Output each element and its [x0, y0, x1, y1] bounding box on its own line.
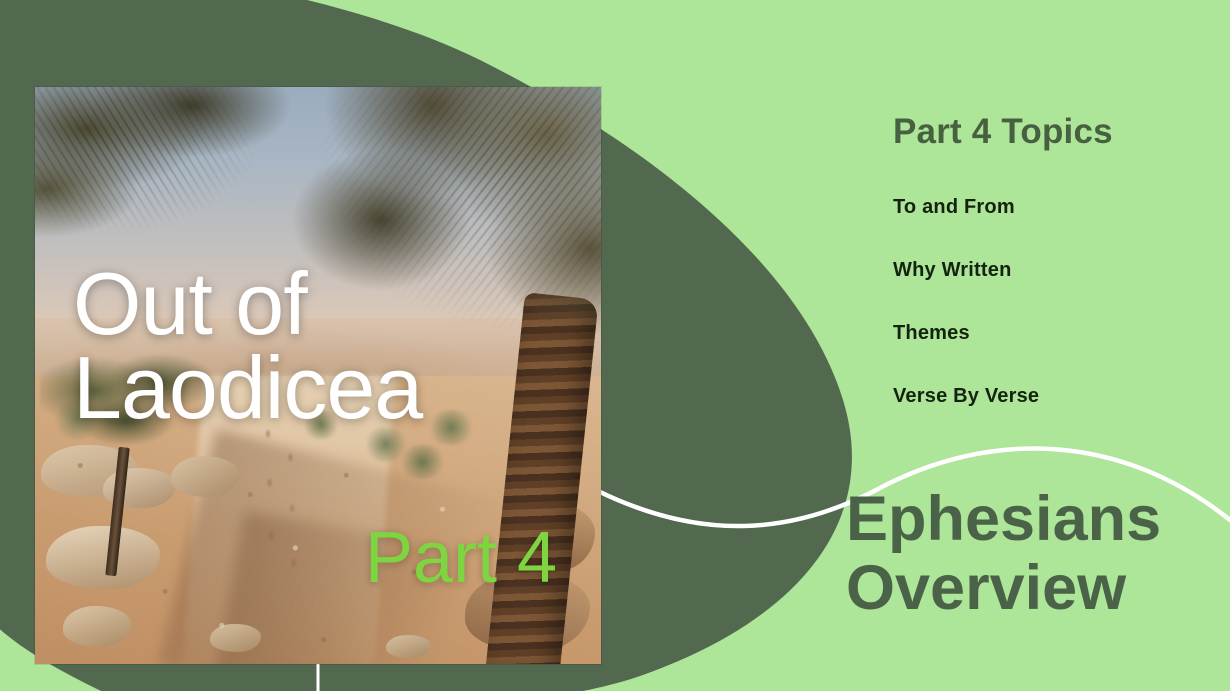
topic-item-verse-by-verse: Verse By Verse: [893, 385, 1193, 408]
topic-item-why-written: Why Written: [893, 259, 1193, 282]
photo-overlay-subtitle: Part 4: [365, 522, 557, 594]
topics-heading: Part 4 Topics: [893, 112, 1113, 152]
deck-title: Ephesians Overview: [846, 485, 1226, 624]
topics-list: To and From Why Written Themes Verse By …: [893, 196, 1193, 448]
topic-item-themes: Themes: [893, 322, 1193, 345]
slide-photo-card: Out of Laodicea Part 4: [35, 87, 601, 664]
presentation-slide: Out of Laodicea Part 4 Part 4 Topics To …: [0, 0, 1230, 691]
topic-item-to-and-from: To and From: [893, 196, 1193, 219]
photo-overlay-title: Out of Laodicea: [73, 262, 422, 429]
